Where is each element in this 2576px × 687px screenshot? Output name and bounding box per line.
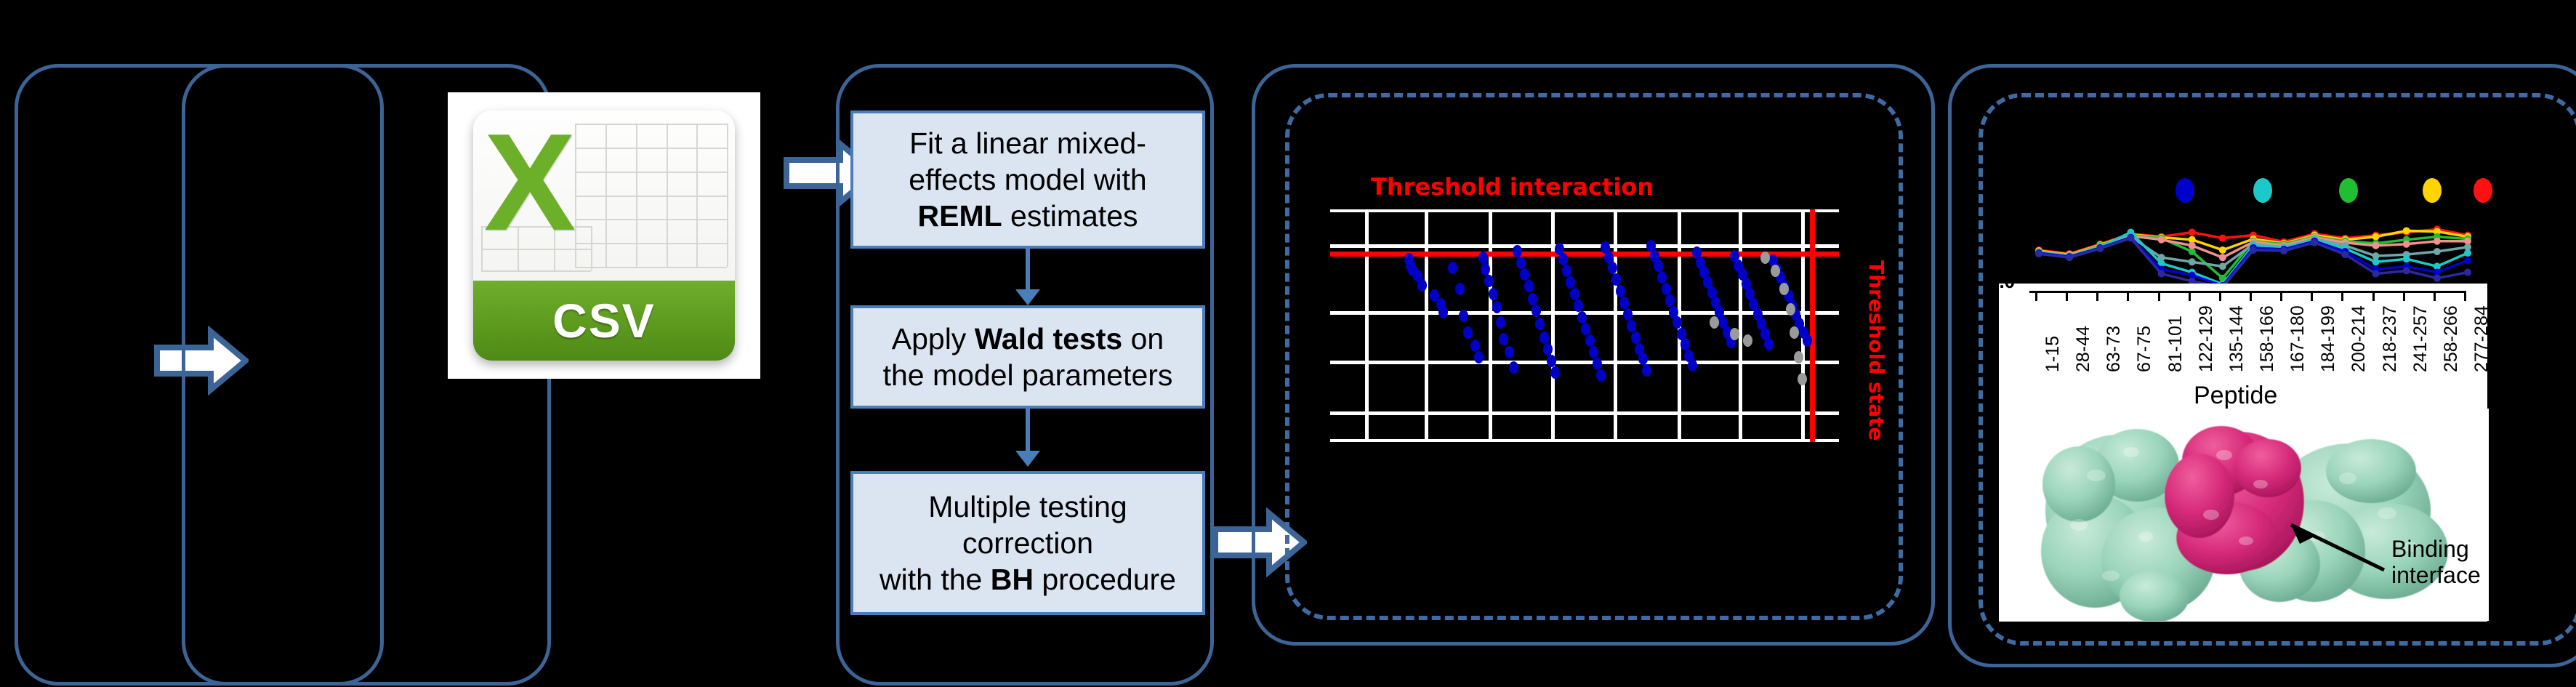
scatter-point [1496, 316, 1505, 329]
scatter-point [1484, 275, 1494, 287]
scatter-point [1657, 271, 1667, 284]
scatter-point [1681, 338, 1690, 350]
scatter-point [1764, 338, 1774, 350]
peptide-marker [2464, 269, 2471, 276]
scatter-point [1470, 340, 1480, 352]
scatter-point [1665, 294, 1675, 307]
scatter-point [1562, 265, 1571, 277]
threshold-scatter-chart: Threshold interaction Threshold st [1285, 109, 1910, 611]
scatter-point [1710, 316, 1719, 329]
scatter-point [1627, 320, 1636, 332]
peptide-marker [2066, 254, 2073, 261]
peptide-marker [2096, 245, 2104, 252]
peptide-marker [2189, 228, 2196, 236]
scatter-point [1771, 265, 1780, 277]
scatter-vertical-title: Threshold state [1864, 260, 1888, 441]
peptide-marker [2403, 255, 2410, 262]
step-fit-model-line1: Fit a linear mixed- [909, 126, 1146, 160]
scatter-point [1581, 323, 1590, 335]
scatter-plot-area [1330, 209, 1839, 442]
excel-x-letter: X [484, 117, 589, 206]
connector-2-head [1015, 451, 1040, 467]
scatter-point [1499, 333, 1508, 345]
scatter-point [1481, 263, 1490, 276]
x-axis-tick-label: 184-199 [2318, 305, 2339, 372]
peptide-marker [2158, 236, 2165, 244]
scatter-point [1535, 318, 1545, 330]
scatter-point [1539, 332, 1549, 344]
scatter-point [1574, 300, 1583, 312]
x-axis-tick-label: 28-44 [2073, 326, 2094, 372]
scatter-point [1589, 346, 1598, 358]
scatter-point [1585, 334, 1595, 347]
scatter-point [1455, 283, 1465, 295]
peptide-marker [2035, 250, 2042, 257]
scatter-point [1417, 279, 1427, 292]
scatter-point [1509, 361, 1518, 374]
scatter-point [1566, 276, 1575, 289]
csv-badge-label: CSV [552, 293, 656, 348]
scatter-point [1547, 355, 1556, 367]
csv-icon-body: X CSV [473, 111, 735, 361]
scatter-point [1642, 364, 1651, 377]
csv-badge: CSV [473, 281, 735, 361]
peptide-marker [2341, 251, 2348, 258]
scatter-point [1798, 373, 1807, 385]
protein-structure-image: Binding interface [2009, 409, 2489, 621]
scatter-point [1505, 346, 1514, 358]
peptide-marker [2219, 254, 2226, 261]
csv-grid-main [575, 124, 727, 267]
step-multiple-testing: Multiple testing correction with the BH … [850, 471, 1205, 615]
step-wald-b: on [1122, 322, 1164, 355]
scatter-point [1474, 351, 1484, 363]
csv-sheet-area: X [473, 111, 735, 281]
x-axis-tick-label: 135-144 [2226, 305, 2247, 372]
scatter-point [1531, 305, 1541, 317]
x-axis-tick-label: 158-166 [2257, 305, 2278, 372]
x-axis-tick-label: 200-214 [2348, 305, 2370, 372]
scatter-point [1611, 273, 1621, 286]
peptide-marker [2250, 246, 2257, 254]
step-mt-line3b: procedure [1034, 563, 1176, 596]
step-wald-line2: the model parameters [883, 358, 1173, 392]
scatter-point [1558, 253, 1568, 265]
scatter-point [1638, 353, 1648, 365]
peptide-marker [2219, 235, 2226, 242]
scatter-point [1803, 334, 1812, 347]
peptide-line-chart [1988, 134, 2497, 291]
step-wald-tests: Apply Wald tests on the model parameters [850, 305, 1205, 409]
scatter-point [1593, 358, 1602, 370]
step-fit-model-reml: REML [918, 199, 1002, 233]
scatter-point [1623, 308, 1633, 321]
peptide-marker [2372, 242, 2380, 249]
csv-file-icon: X CSV [448, 93, 760, 378]
workflow-figure: X CSV Fit a linear mixed- effects model … [0, 0, 2576, 687]
step-mt-line1: Multiple testing [928, 490, 1127, 523]
peptide-axis-title: Peptide [2194, 382, 2277, 410]
peptide-marker [2219, 262, 2226, 270]
x-axis-tick-label: 258-266 [2441, 305, 2462, 372]
step-mt-line3a: with the [880, 563, 991, 596]
peptide-marker [2311, 239, 2318, 246]
x-axis-tick-label: 241-257 [2410, 305, 2431, 372]
scatter-point [1570, 288, 1579, 300]
peptide-marker [2189, 242, 2196, 249]
x-axis-tick-label: 63-73 [2104, 326, 2125, 372]
scatter-point [1779, 283, 1789, 295]
binding-interface-label: Binding interface [2391, 537, 2481, 589]
peptide-series-svg [1988, 134, 2497, 291]
scatter-points-group [1330, 209, 1839, 442]
x-axis-tick-label: 167-180 [2287, 305, 2309, 372]
peptide-marker [2464, 257, 2471, 264]
peptide-marker [2189, 258, 2196, 265]
peptide-marker [2434, 275, 2441, 282]
scatter-point [1688, 359, 1697, 371]
x-axis-tick-label: 122-129 [2196, 305, 2217, 372]
scatter-point [1492, 301, 1502, 313]
scatter-point [1513, 245, 1522, 257]
step-fit-model-line3rest: estimates [1002, 199, 1138, 233]
scatter-point [1608, 262, 1617, 274]
peptide-marker [2464, 249, 2471, 257]
scatter-point [1489, 288, 1498, 300]
peptide-marker [2434, 238, 2441, 245]
scatter-point [1543, 343, 1553, 355]
step-fit-model: Fit a linear mixed- effects model with R… [850, 111, 1205, 249]
peptide-marker [2403, 241, 2410, 248]
peptide-axis-and-structure-panel: 0.0 1-1528-4463-7367-7581-101122-129135-… [1999, 284, 2487, 622]
step-fit-model-line2: effects model with [909, 163, 1146, 196]
peptide-marker [2158, 270, 2165, 278]
scatter-point [1730, 328, 1739, 340]
scatter-point [1790, 326, 1799, 339]
scatter-point [1619, 297, 1629, 309]
peptide-marker [2403, 227, 2410, 234]
connector-1 [1026, 249, 1030, 291]
peptide-marker [2127, 235, 2134, 242]
scatter-point [1631, 332, 1641, 344]
x-axis-tick-label: 1-15 [2042, 336, 2064, 372]
x-axis-tick-label: 218-237 [2380, 305, 2401, 372]
scatter-point [1654, 260, 1663, 272]
step-mt-line2: correction [962, 526, 1093, 560]
scatter-point [1459, 310, 1468, 322]
scatter-point [1478, 252, 1488, 264]
scatter-point [1448, 262, 1457, 274]
scatter-point [1786, 303, 1795, 316]
scatter-point [1662, 283, 1671, 295]
scatter-point [1550, 366, 1560, 379]
scatter-point [1616, 285, 1625, 297]
scatter-point [1794, 351, 1803, 363]
scatter-point [1438, 306, 1448, 318]
step-mt-bh: BH [991, 563, 1034, 596]
connector-2 [1026, 409, 1030, 452]
step-wald-bold: Wald tests [975, 322, 1123, 355]
x-axis-tick-label: 67-75 [2134, 326, 2155, 372]
scatter-point [1463, 326, 1473, 339]
scatter-title: Threshold interaction [1371, 173, 1654, 201]
peptide-marker [2372, 270, 2380, 278]
scatter-point [1528, 293, 1537, 305]
binding-interface-line1: Binding [2391, 536, 2469, 562]
binding-interface-line2: interface [2391, 562, 2481, 588]
peptide-marker [2280, 247, 2287, 254]
x-axis-tick-label: 277-284 [2471, 305, 2492, 372]
scatter-point [1524, 280, 1534, 292]
scatter-point [1577, 311, 1587, 324]
peptide-marker [2219, 246, 2226, 254]
scatter-point [1516, 257, 1526, 269]
step-wald-a: Apply [892, 322, 975, 355]
peptide-marker [2372, 258, 2380, 265]
peptide-marker [2403, 268, 2410, 275]
peptide-marker [2434, 248, 2441, 255]
scatter-point [1760, 252, 1770, 264]
scatter-point [1596, 369, 1606, 382]
scatter-point [1673, 316, 1682, 329]
x-axis-tick-label: 81-101 [2165, 316, 2186, 372]
scatter-point [1520, 268, 1529, 281]
peptide-marker [2372, 233, 2380, 241]
connector-1-head [1015, 289, 1040, 305]
scatter-point [1743, 334, 1752, 347]
